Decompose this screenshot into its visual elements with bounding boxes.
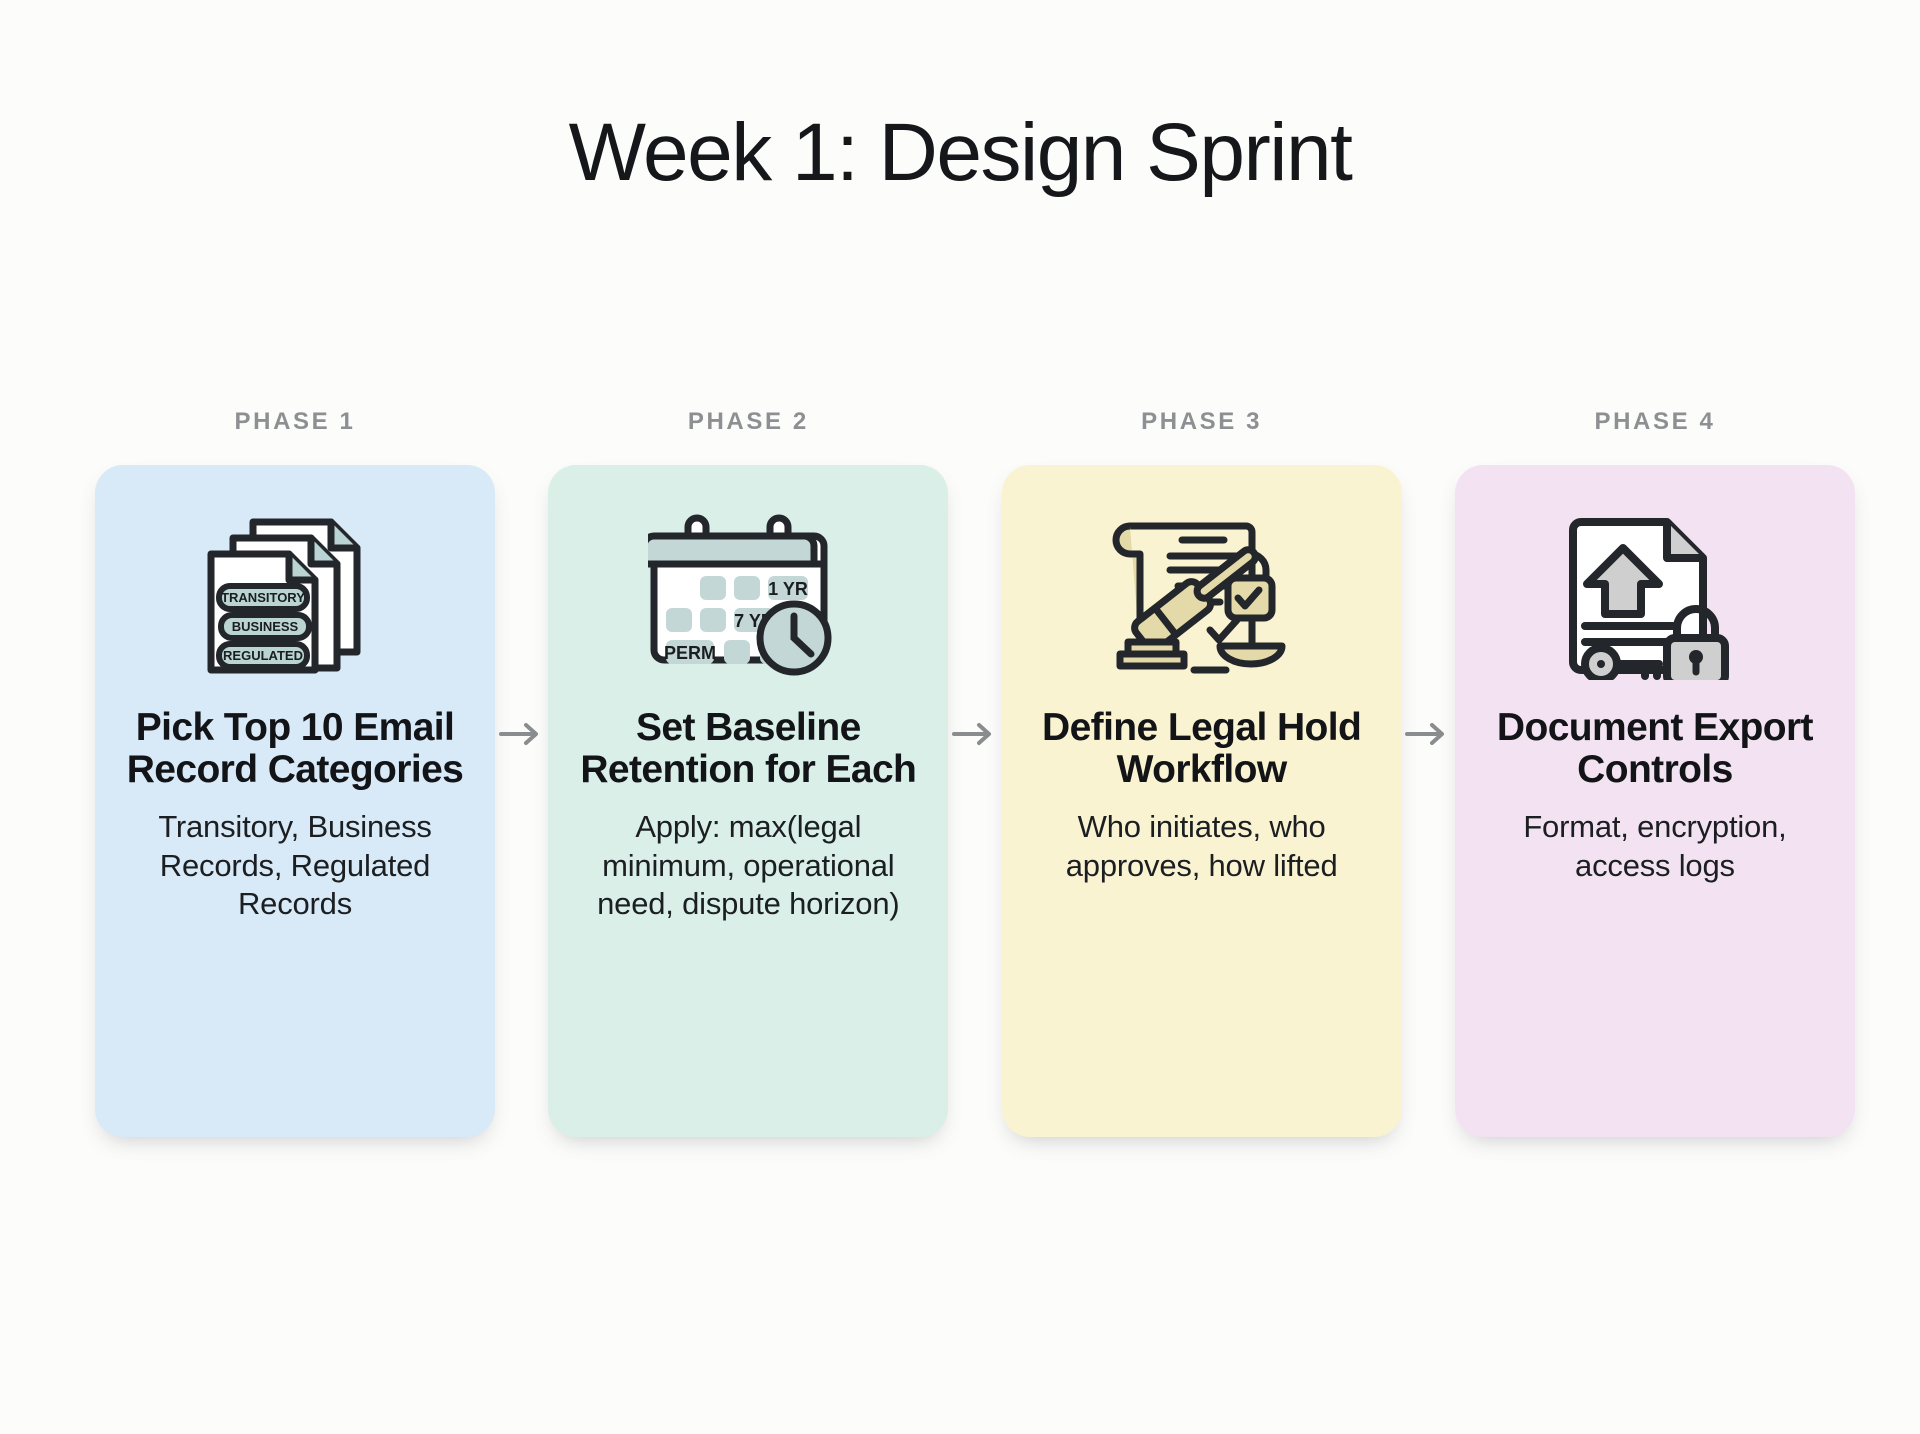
phase-card-desc-3: Who initiates, who approves, how lifted xyxy=(1037,808,1367,884)
phase-label-3: PHASE 3 xyxy=(1141,408,1262,436)
icon-label-1yr: 1 YR xyxy=(768,579,808,599)
document-upload-lock-icon xyxy=(1550,511,1760,681)
phase-column-2: PHASE 2 xyxy=(548,408,948,1137)
icon-label-transitory: TRANSITORY xyxy=(221,590,305,605)
icon-label-business: BUSINESS xyxy=(232,619,299,634)
flow-arrow-1 xyxy=(496,408,548,748)
phase-card-3[interactable]: Define Legal Hold Workflow Who initiates… xyxy=(1002,465,1402,1137)
phase-card-title-1: Pick Top 10 Email Record Categories xyxy=(125,707,465,790)
phase-column-1: PHASE 1 xyxy=(95,408,495,1137)
phase-card-desc-4: Format, encryption, access logs xyxy=(1490,808,1820,884)
phase-card-title-4: Document Export Controls xyxy=(1485,707,1825,790)
gavel-scroll-lock-icon xyxy=(1097,511,1307,681)
phase-card-1[interactable]: TRANSITORY BUSINESS REGULATED Pick Top 1… xyxy=(95,465,495,1137)
phase-flow: PHASE 1 xyxy=(95,408,1855,1137)
flow-arrow-3 xyxy=(1402,408,1454,748)
phase-label-2: PHASE 2 xyxy=(688,408,809,436)
phase-card-title-2: Set Baseline Retention for Each xyxy=(578,707,918,790)
page-title: Week 1: Design Sprint xyxy=(0,112,1920,194)
phase-column-4: PHASE 4 xyxy=(1455,408,1855,1137)
arrow-right-icon xyxy=(499,720,545,748)
phase-card-4[interactable]: Document Export Controls Format, encrypt… xyxy=(1455,465,1855,1137)
calendar-clock-icon: 1 YR 7 YR PERM xyxy=(643,511,853,681)
phase-card-desc-1: Transitory, Business Records, Regulated … xyxy=(130,808,460,922)
icon-label-perm: PERM xyxy=(664,643,716,663)
icon-label-regulated: REGULATED xyxy=(223,648,303,663)
arrow-right-icon xyxy=(952,720,998,748)
phase-card-desc-2: Apply: max(legal minimum, operational ne… xyxy=(583,808,913,922)
phase-card-title-3: Define Legal Hold Workflow xyxy=(1032,707,1372,790)
stacked-documents-icon: TRANSITORY BUSINESS REGULATED xyxy=(190,511,400,681)
flow-arrow-2 xyxy=(949,408,1001,748)
phase-label-4: PHASE 4 xyxy=(1594,408,1715,436)
phase-column-3: PHASE 3 xyxy=(1002,408,1402,1137)
phase-card-2[interactable]: 1 YR 7 YR PERM Set Baseline Retention fo… xyxy=(548,465,948,1137)
phase-label-1: PHASE 1 xyxy=(235,408,356,436)
arrow-right-icon xyxy=(1405,720,1451,748)
